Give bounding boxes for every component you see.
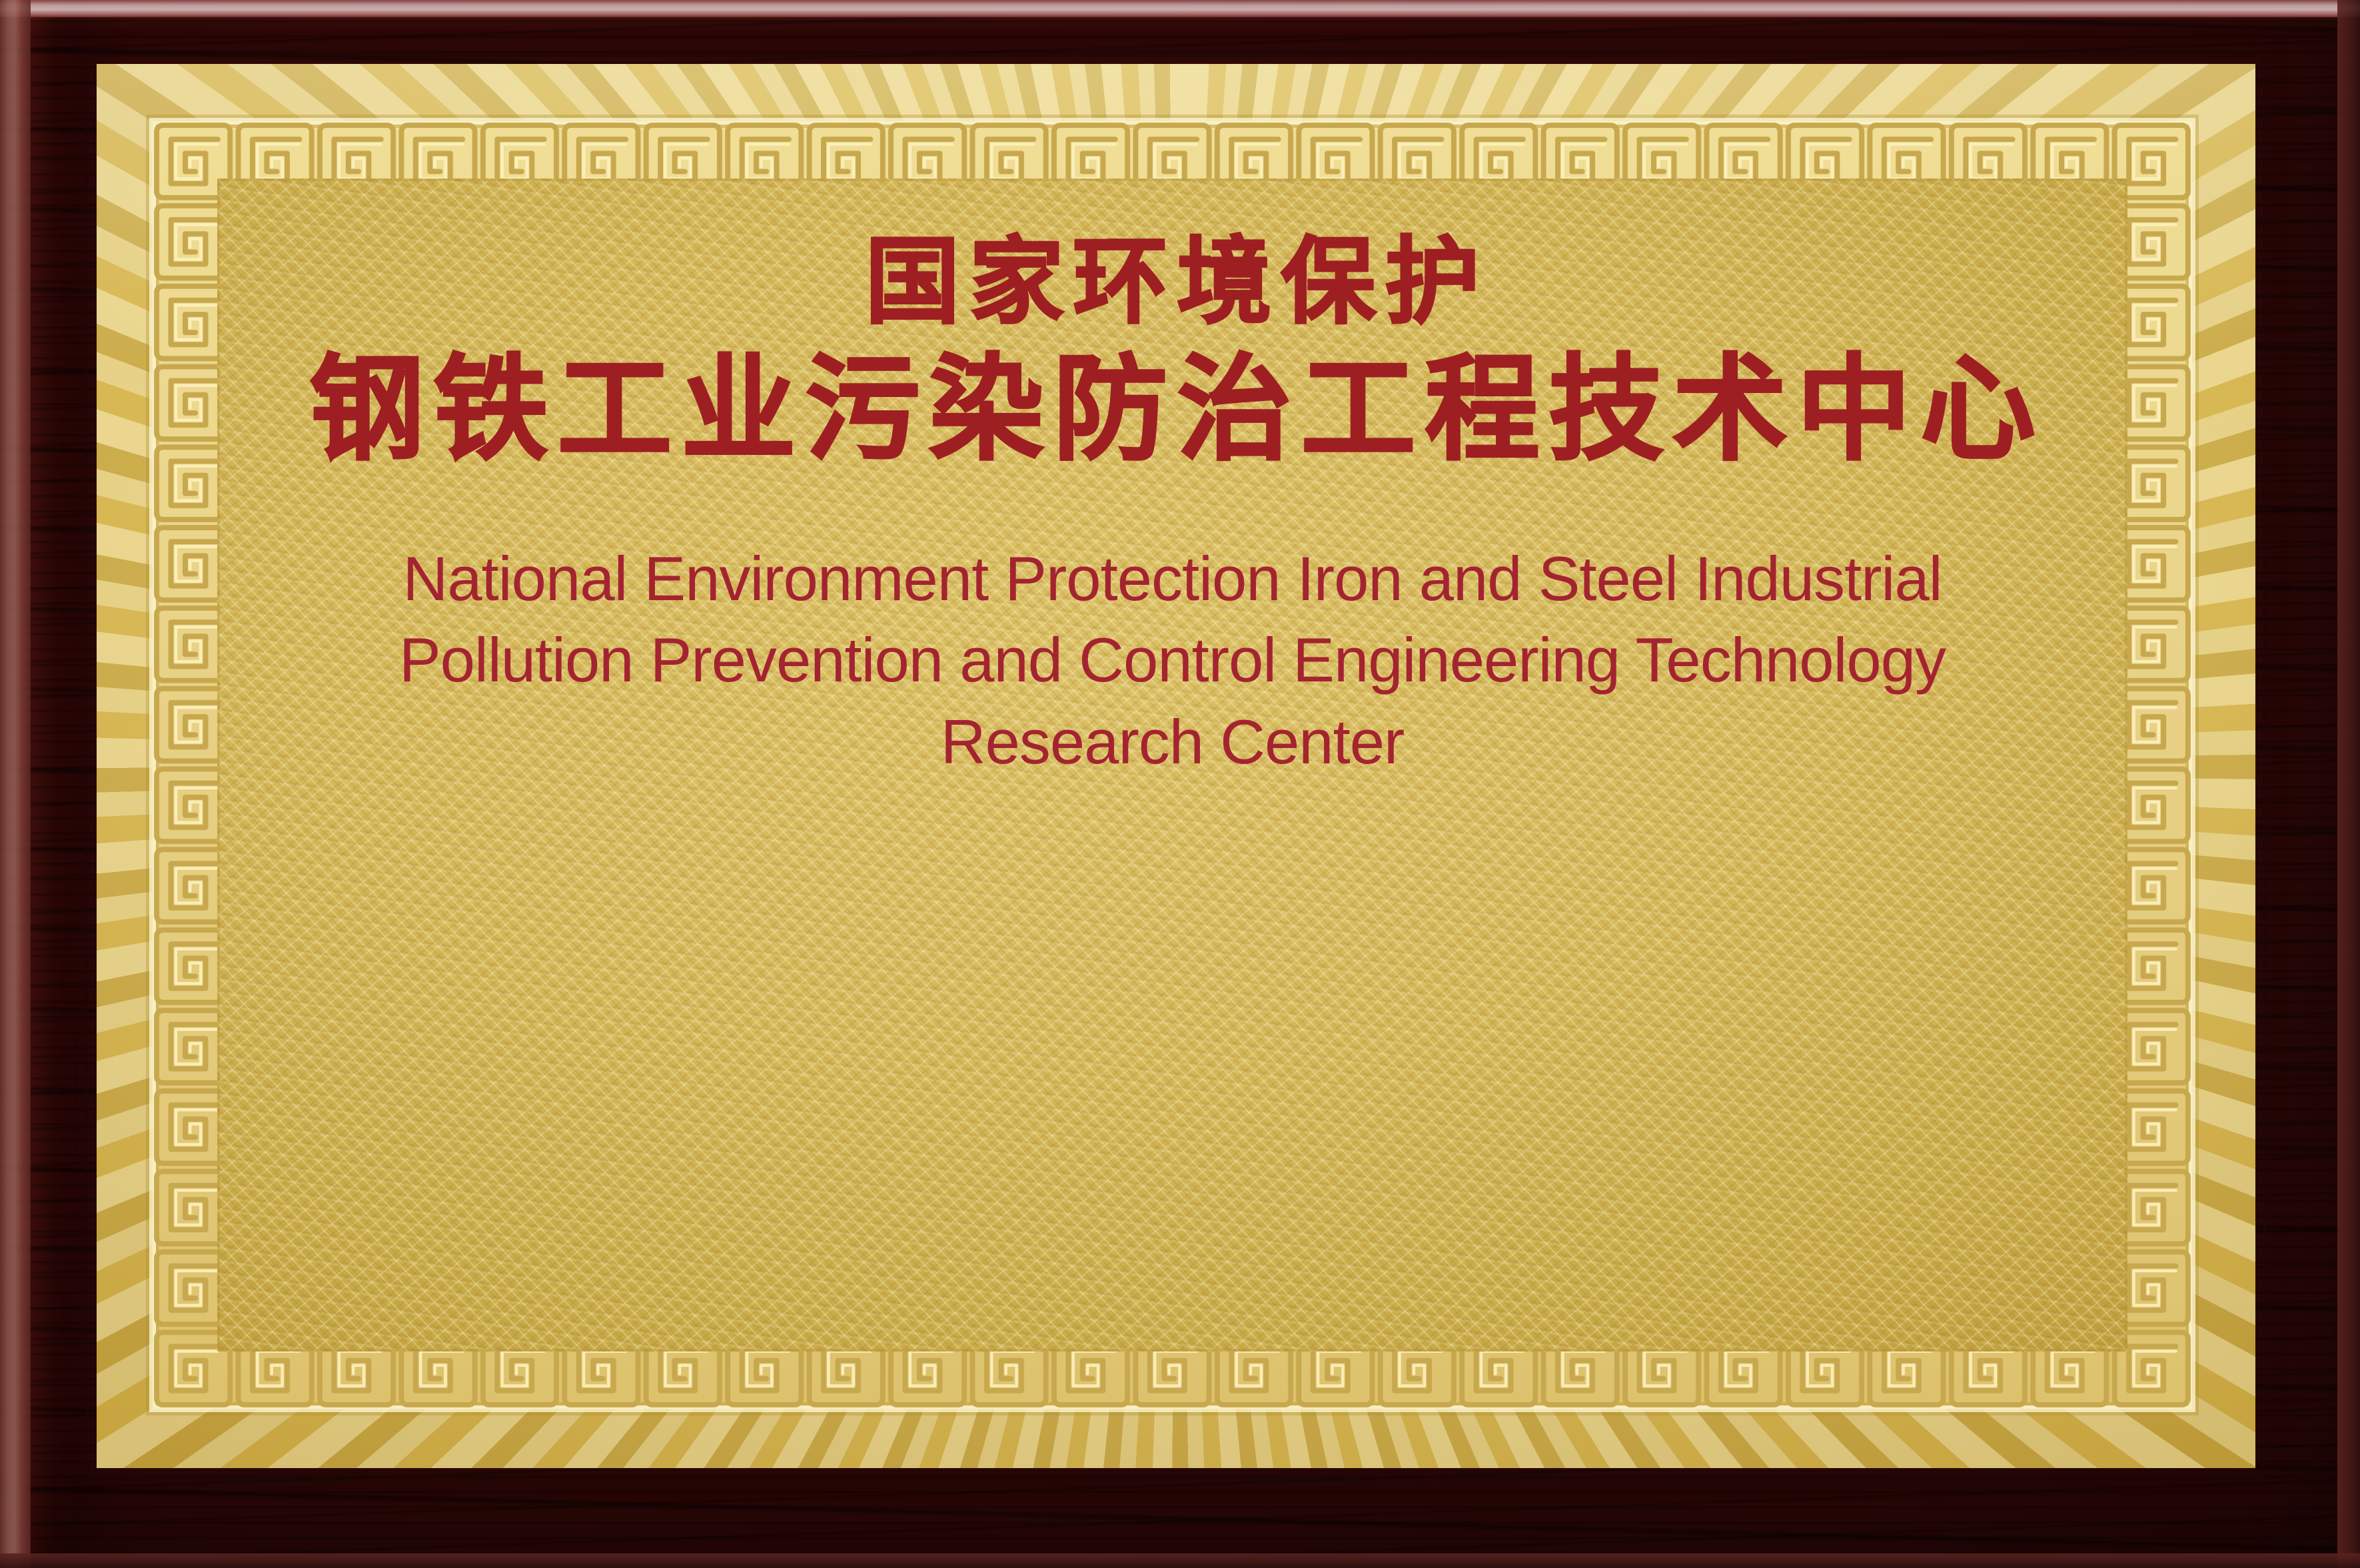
frame-bevel-left xyxy=(0,0,31,1568)
award-plaque: 国家环境保护 钢铁工业污染防治工程技术中心 National Environme… xyxy=(0,0,2360,1568)
english-subtitle-line-3: Research Center xyxy=(230,701,2115,783)
inscription-block: 国家环境保护 钢铁工业污染防治工程技术中心 National Environme… xyxy=(217,179,2127,1352)
chinese-heading-line-2: 钢铁工业污染防治工程技术中心 xyxy=(300,351,2045,468)
english-subtitle-line-1: National Environment Protection Iron and… xyxy=(230,538,2115,619)
inner-gold-field: 国家环境保护 钢铁工业污染防治工程技术中心 National Environme… xyxy=(217,179,2127,1352)
frame-bevel-top xyxy=(0,0,2360,17)
gold-plate: 国家环境保护 钢铁工业污染防治工程技术中心 National Environme… xyxy=(97,64,2255,1468)
chinese-heading-line-1: 国家环境保护 xyxy=(856,234,1489,331)
english-subtitle-line-2: Pollution Prevention and Control Enginee… xyxy=(230,619,2115,701)
frame-bevel-bottom xyxy=(0,1553,2360,1568)
frame-bevel-right xyxy=(2337,0,2360,1568)
english-subtitle: National Environment Protection Iron and… xyxy=(230,538,2115,783)
